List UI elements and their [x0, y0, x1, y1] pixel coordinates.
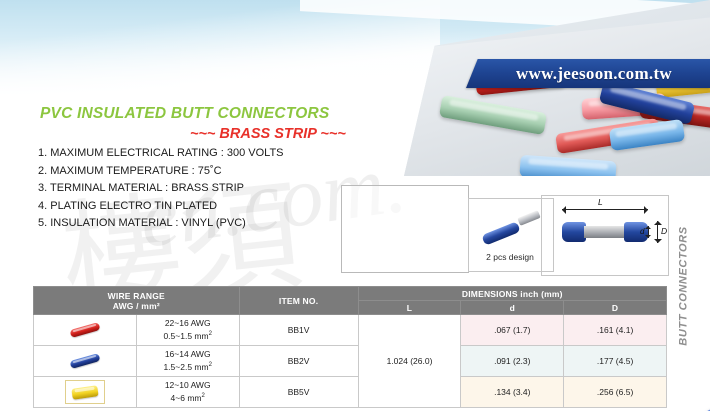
- header-wire-range-line2: AWG / mm²: [34, 301, 239, 311]
- wire-mm2: 4~6 mm: [171, 393, 202, 403]
- row-item-no: BB5V: [239, 377, 358, 408]
- header-dimensions: DIMENSIONS inch (mm): [358, 287, 666, 301]
- side-tab-label: BUTT CONNECTORS: [678, 226, 690, 345]
- spec-item: 5. INSULATION MATERIAL : VINYL (PVC): [38, 215, 338, 233]
- spec-item: 2. MAXIMUM TEMPERATURE : 75˚C: [38, 163, 338, 181]
- table-row: 16~14 AWG 1.5~2.5 mm2 BB2V .091 (2.3) .1…: [34, 346, 667, 377]
- product-render-panel: [341, 185, 469, 273]
- dimension-connector-body: [562, 222, 648, 242]
- wire-awg: 22~16 AWG: [165, 318, 211, 328]
- row-wire-range: 22~16 AWG 0.5~1.5 mm2: [136, 315, 239, 346]
- row-dimension-D: .161 (4.1): [564, 315, 667, 346]
- dimension-body-barrel: [584, 226, 628, 238]
- dimension-arrow-inner-diameter: [648, 226, 649, 238]
- spec-item: 1. MAXIMUM ELECTRICAL RATING : 300 VOLTS: [38, 145, 338, 163]
- row-wire-range: 16~14 AWG 1.5~2.5 mm2: [136, 346, 239, 377]
- header-col-L: L: [358, 301, 461, 315]
- row-wire-range: 12~10 AWG 4~6 mm2: [136, 377, 239, 408]
- dimension-label-L: L: [598, 197, 603, 207]
- row-dimension-d: .091 (2.3): [461, 346, 564, 377]
- connector-swatch-yellow: [65, 380, 105, 404]
- page-title: PVC INSULATED BUTT CONNECTORS: [40, 105, 329, 123]
- dimension-label-d: d: [640, 227, 644, 236]
- header-col-d: d: [461, 301, 564, 315]
- connector-swatch-blue: [66, 350, 104, 372]
- table-row: 22~16 AWG 0.5~1.5 mm2 BB1V 1.024 (26.0) …: [34, 315, 667, 346]
- header-wire-range-line1: WIRE RANGE: [34, 291, 239, 301]
- row-item-no: BB2V: [239, 346, 358, 377]
- wire-mm2-sup: 2: [202, 393, 205, 399]
- table-header: WIRE RANGE AWG / mm² ITEM NO. DIMENSIONS…: [34, 287, 667, 315]
- wire-awg: 16~14 AWG: [165, 349, 211, 359]
- row-swatch-cell: [34, 377, 137, 408]
- row-dimension-L: 1.024 (26.0): [358, 315, 461, 408]
- header-col-D: D: [564, 301, 667, 315]
- wire-mm2: 0.5~1.5 mm: [163, 331, 208, 341]
- connector-swatch-red: [66, 319, 104, 341]
- table-row: 12~10 AWG 4~6 mm2 BB5V .134 (3.4) .256 (…: [34, 377, 667, 408]
- wire-awg: 12~10 AWG: [165, 380, 211, 390]
- dimension-body-left: [562, 222, 586, 242]
- side-tab-butt-connectors: BUTT CONNECTORS: [672, 186, 696, 386]
- specification-list: 1. MAXIMUM ELECTRICAL RATING : 300 VOLTS…: [38, 145, 338, 233]
- two-piece-caption: 2 pcs design: [468, 252, 552, 262]
- spec-item: 3. TERMINAL MATERIAL : BRASS STRIP: [38, 180, 338, 198]
- row-dimension-D: .256 (6.5): [564, 377, 667, 408]
- table-body: 22~16 AWG 0.5~1.5 mm2 BB1V 1.024 (26.0) …: [34, 315, 667, 408]
- row-dimension-D: .177 (4.5): [564, 346, 667, 377]
- specification-table: WIRE RANGE AWG / mm² ITEM NO. DIMENSIONS…: [33, 286, 667, 408]
- website-url[interactable]: www.jeesoon.com.tw: [478, 60, 710, 87]
- row-swatch-cell: [34, 346, 137, 377]
- row-swatch-cell: [34, 315, 137, 346]
- row-item-no: BB1V: [239, 315, 358, 346]
- spec-item: 4. PLATING ELECTRO TIN PLATED: [38, 198, 338, 216]
- page-subtitle: ~~~ BRASS STRIP ~~~: [190, 126, 346, 142]
- header-item-no: ITEM NO.: [239, 287, 358, 315]
- row-dimension-d: .134 (3.4): [461, 377, 564, 408]
- product-render-connector: [700, 372, 710, 411]
- row-dimension-d: .067 (1.7): [461, 315, 564, 346]
- wire-mm2-sup: 2: [209, 362, 212, 368]
- catalog-page: www.jeesoon.com.tw 樓須 en.com. PVC INSULA…: [0, 0, 710, 411]
- header-wire-range: WIRE RANGE AWG / mm²: [34, 287, 240, 315]
- dimension-label-D: D: [661, 226, 667, 236]
- dimension-arrow-length: [562, 209, 648, 210]
- wire-mm2: 1.5~2.5 mm: [163, 362, 208, 372]
- wire-mm2-sup: 2: [209, 331, 212, 337]
- dimension-arrow-outer-diameter: [657, 221, 658, 243]
